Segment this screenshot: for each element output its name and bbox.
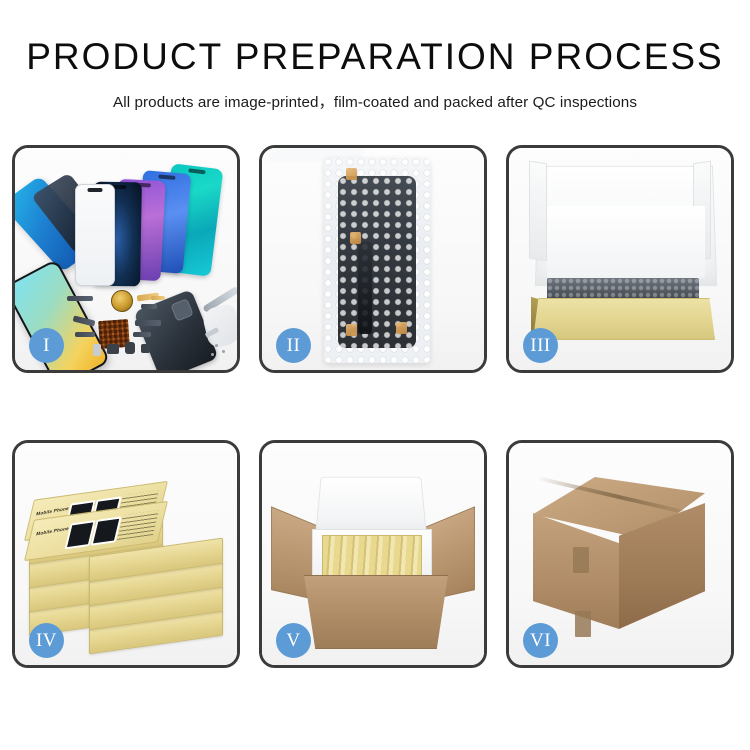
process-step-6: VI: [506, 440, 734, 668]
glass-panel-icon: [75, 184, 115, 286]
adhesive-tape-icon: [350, 232, 361, 244]
adhesive-tape-icon: [346, 324, 357, 336]
carton-body-icon: [296, 575, 456, 649]
lid-flap-left-icon: [529, 161, 547, 262]
vibrator-motor-icon: [125, 342, 135, 354]
notch-icon: [158, 174, 175, 179]
screw-icon: [215, 344, 218, 347]
step-badge-2: II: [276, 328, 311, 363]
step-badge-4: IV: [29, 623, 64, 658]
carton-tape-icon: [573, 547, 589, 573]
step-badge-1: I: [29, 328, 64, 363]
carton-tape-icon: [575, 611, 591, 637]
page-title: PRODUCT PREPARATION PROCESS: [0, 38, 750, 77]
page-header: PRODUCT PREPARATION PROCESS All products…: [0, 0, 750, 112]
small-component-icon: [141, 344, 150, 353]
yellow-box-body-icon: [533, 298, 715, 340]
bubble-wrap-bag-icon: [324, 158, 430, 363]
screw-icon: [211, 353, 214, 356]
box-stack: Mobile Phone Spare Parts Mobile Phone Sp…: [29, 473, 229, 653]
process-step-4: Mobile Phone Spare Parts Mobile Phone Sp…: [12, 440, 240, 668]
sim-tray-icon: [93, 344, 101, 356]
process-step-3: III: [506, 145, 734, 373]
process-step-2: II: [259, 145, 487, 373]
step-badge-5: V: [276, 623, 311, 658]
notch-icon: [188, 168, 205, 174]
speaker-module-icon: [111, 290, 133, 312]
product-preparation-process-page: PRODUCT PREPARATION PROCESS All products…: [0, 0, 750, 750]
flex-cable-icon: [358, 242, 372, 334]
yellow-boxes-inside-icon: [322, 535, 422, 579]
flex-cable-icon: [141, 304, 157, 309]
flex-cable-icon: [133, 332, 151, 337]
notch-icon: [88, 188, 103, 192]
flex-cable-icon: [135, 320, 161, 326]
process-step-1: I: [12, 145, 240, 373]
step-badge-6: VI: [523, 623, 558, 658]
process-step-5: V: [259, 440, 487, 668]
adhesive-tape-icon: [396, 322, 407, 334]
foam-box-lid-icon: [315, 477, 427, 537]
foam-lining-icon: [547, 206, 705, 278]
flex-cable-icon: [75, 332, 95, 337]
page-subtitle: All products are image-printed，film-coat…: [0, 90, 750, 112]
step-badge-3: III: [523, 328, 558, 363]
box-spec-text-icon: [117, 510, 159, 540]
adhesive-tape-icon: [346, 168, 357, 180]
gold-contact-icon: [151, 296, 165, 300]
process-step-grid: I II: [12, 145, 738, 668]
flex-cable-icon: [67, 296, 93, 301]
screw-icon: [222, 350, 225, 353]
camera-module-icon: [107, 344, 119, 354]
